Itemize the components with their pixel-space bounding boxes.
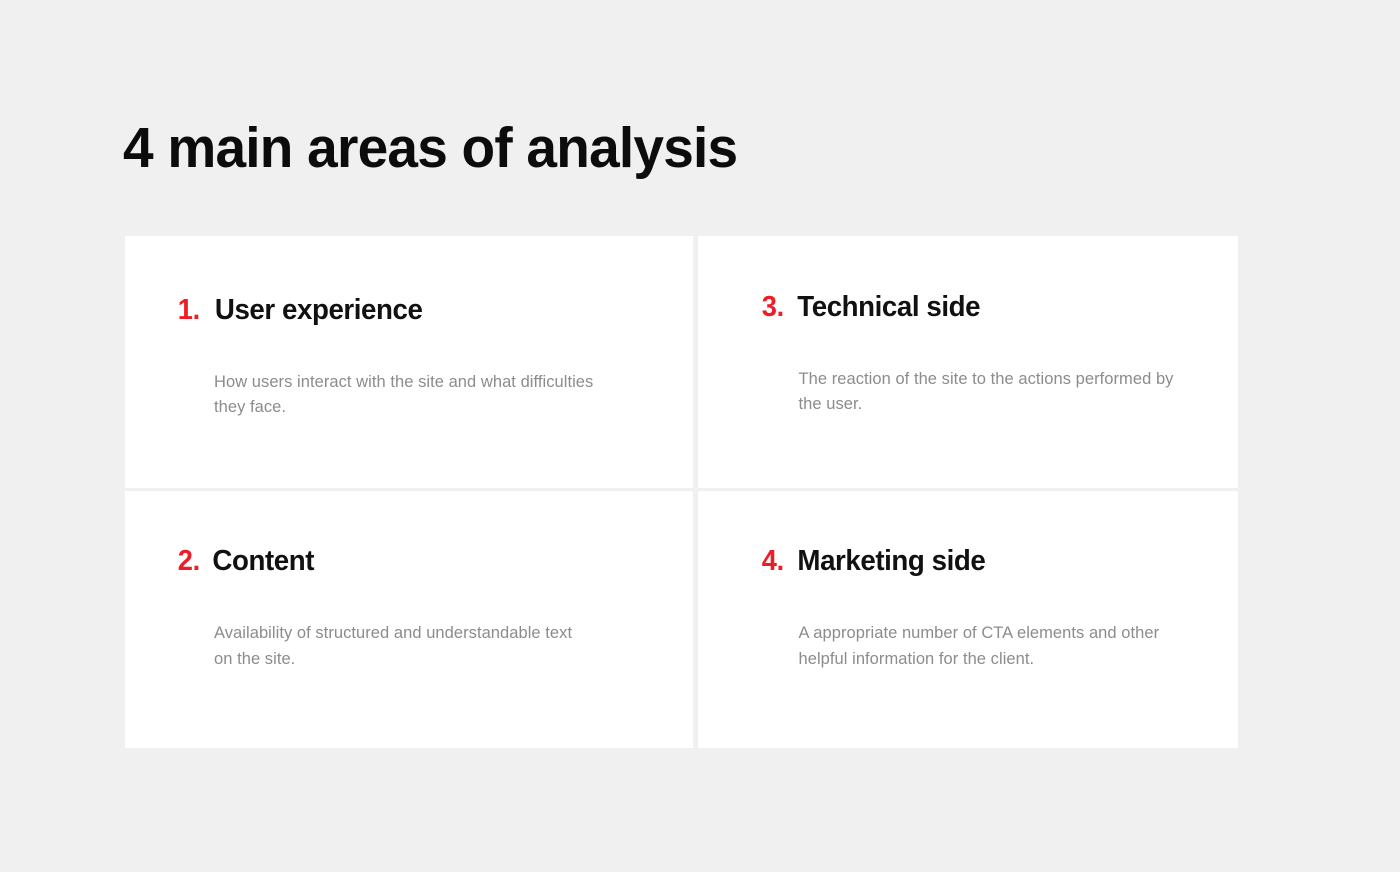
slide-root: 4 main areas of analysis 1. User experie…	[0, 0, 1400, 872]
card-2-heading: 2. Content	[177, 545, 316, 578]
page-title: 4 main areas of analysis	[123, 119, 737, 179]
analysis-card-4[interactable]: 4. Marketing side A appropriate number o…	[698, 491, 1239, 749]
card-4-description: A appropriate number of CTA elements and…	[799, 621, 1199, 672]
card-1-heading: 1. User experience	[177, 294, 427, 327]
analysis-card-3[interactable]: 3. Technical side The reaction of the si…	[698, 236, 1239, 488]
analysis-areas-grid: 1. User experience How users interact wi…	[125, 236, 1238, 748]
analysis-card-2[interactable]: 2. Content Availability of structured an…	[125, 491, 693, 749]
card-2-title: Content	[212, 545, 314, 578]
card-1-title: User experience	[214, 294, 422, 327]
card-1-description: How users interact with the site and wha…	[214, 370, 594, 421]
card-4-title: Marketing side	[798, 545, 986, 578]
card-3-title: Technical side	[797, 291, 980, 324]
card-3-heading: 3. Technical side	[761, 291, 985, 324]
card-4-heading: 4. Marketing side	[761, 545, 990, 578]
card-2-number: 2.	[178, 545, 200, 578]
card-3-number: 3.	[761, 291, 783, 324]
analysis-card-1[interactable]: 1. User experience How users interact wi…	[125, 236, 693, 488]
card-3-description: The reaction of the site to the actions …	[799, 367, 1199, 418]
card-4-number: 4.	[761, 545, 783, 578]
card-2-description: Availability of structured and understan…	[214, 621, 594, 672]
card-1-number: 1.	[178, 294, 200, 327]
